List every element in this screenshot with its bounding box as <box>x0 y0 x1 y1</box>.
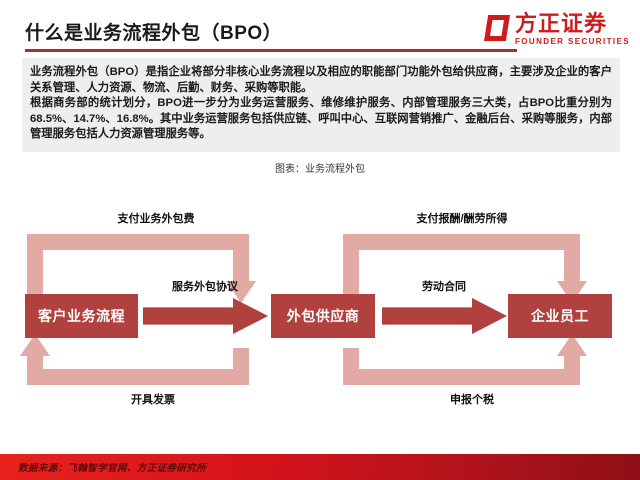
flow-label-pay-remuneration: 支付报酬/酬劳所得 <box>392 210 532 226</box>
flow-declare-tax-bottom <box>343 369 580 385</box>
flow-label-issue-invoice: 开具发票 <box>98 391 208 407</box>
company-logo: 方正证券 FOUNDER SECURITIES <box>484 13 630 46</box>
flow-arrow-service-agreement <box>143 298 268 334</box>
flow-pay-remuneration-drop <box>564 234 580 284</box>
flow-pay-outsourcing-fee-top <box>27 234 249 250</box>
founder-square-mark-icon <box>484 15 510 41</box>
summary-paragraph-2: 根据商务部的统计划分，BPO进一步分为业务运营服务、维修维护服务、内部管理服务三… <box>30 96 612 143</box>
figure-caption: 图表：业务流程外包 <box>0 160 640 175</box>
flow-issue-invoice-rise-left <box>27 355 43 385</box>
flow-issue-invoice-bottom <box>27 369 249 385</box>
node-client-business-process[interactable]: 客户业务流程 <box>25 294 138 338</box>
summary-text-block: 业务流程外包（BPO）是指企业将部分非核心业务流程以及相应的职能部门功能外包给供… <box>22 58 620 152</box>
flow-declare-tax-rise-right <box>564 355 580 385</box>
page-title: 什么是业务流程外包（BPO） <box>25 18 282 45</box>
flow-pay-remuneration-top <box>343 234 580 250</box>
flow-declare-tax-riser <box>343 348 359 385</box>
summary-paragraph-1: 业务流程外包（BPO）是指企业将部分非核心业务流程以及相应的职能部门功能外包给供… <box>30 65 612 96</box>
bpo-flow-diagram: 支付业务外包费 支付报酬/酬劳所得 开具发票 申报个税 服务外包协议 劳动合同 … <box>0 185 640 430</box>
title-underline <box>25 49 517 52</box>
logo-name-cn: 方正证券 <box>515 13 630 35</box>
node-outsourcing-vendor[interactable]: 外包供应商 <box>271 294 375 338</box>
footer-bar: 数据来源：飞翰智学官网、方正证券研究所 <box>0 454 640 480</box>
logo-name-en: FOUNDER SECURITIES <box>515 38 630 46</box>
flow-arrow-labor-contract <box>382 298 507 334</box>
flow-label-declare-tax: 申报个税 <box>417 391 527 407</box>
flow-label-pay-outsourcing-fee: 支付业务外包费 <box>86 210 226 226</box>
flow-label-service-agreement: 服务外包协议 <box>145 278 265 294</box>
flow-label-labor-contract: 劳动合同 <box>384 278 504 294</box>
flow-issue-invoice-riser <box>233 348 249 385</box>
node-enterprise-employee[interactable]: 企业员工 <box>508 294 612 338</box>
slide-root: 什么是业务流程外包（BPO） 方正证券 FOUNDER SECURITIES 业… <box>0 0 640 480</box>
flow-pay-outsourcing-fee-drop <box>233 234 249 284</box>
data-source-note: 数据来源：飞翰智学官网、方正证券研究所 <box>18 460 206 474</box>
